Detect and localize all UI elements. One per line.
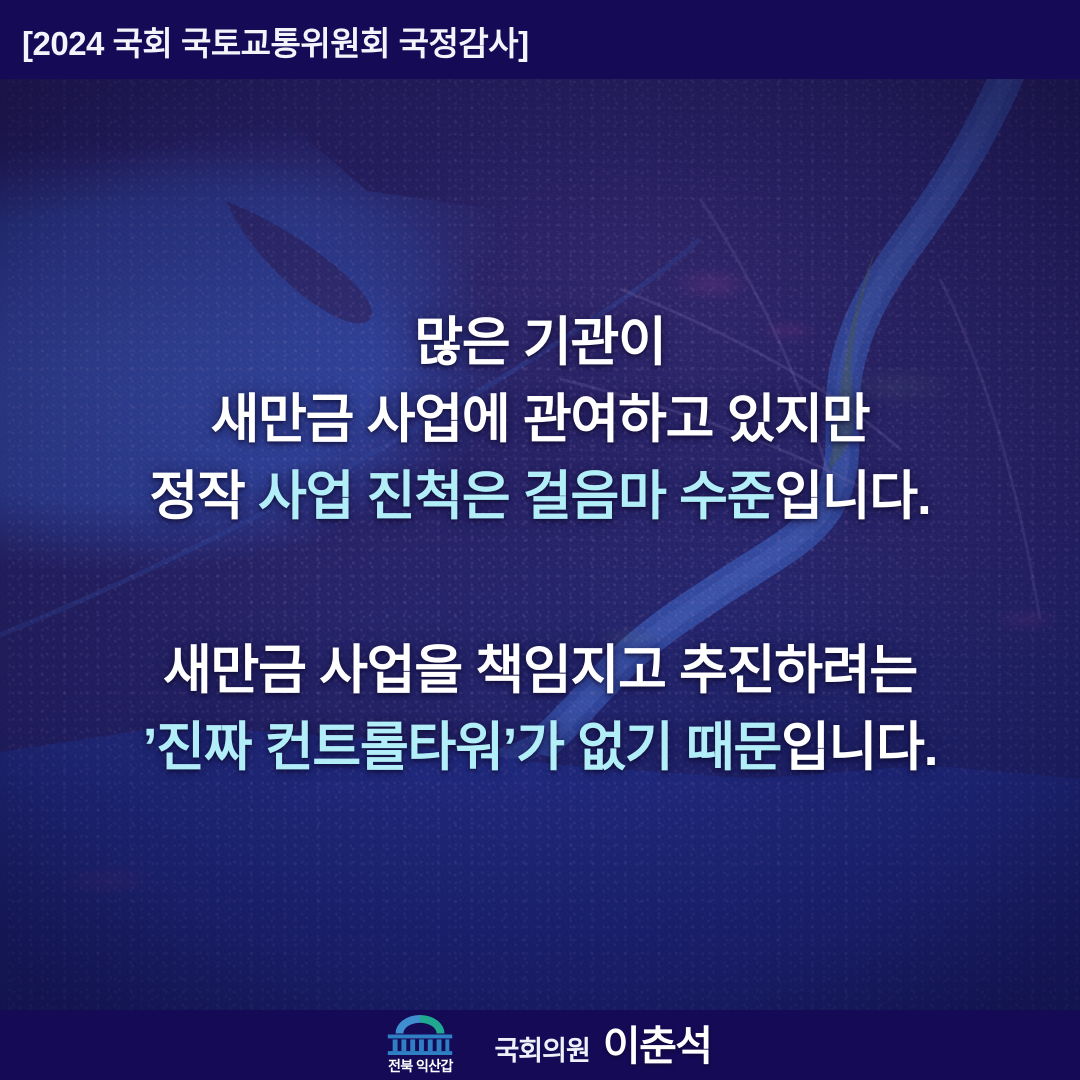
line-segment: 새만금 사업에 관여하고 있지만 bbox=[211, 390, 870, 449]
line-segment-highlight: 사업 진척은 걸음마 수준 bbox=[258, 467, 774, 526]
line-segment: 정작 bbox=[149, 467, 258, 526]
promo-card: [2024 국회 국토교통위원회 국정감사] 많은 기관이 새만금 사업에 관여… bbox=[0, 0, 1080, 1080]
message-line: ’진짜 컨트롤타워’가 없기 때문입니다. bbox=[24, 709, 1056, 786]
brand-block: 국회의원 이춘석 bbox=[494, 1012, 711, 1072]
member-role: 국회의원 bbox=[494, 1029, 589, 1068]
line-segment: 새만금 사업을 책임지고 추진하려는 bbox=[163, 641, 917, 700]
message-line: 새만금 사업에 관여하고 있지만 bbox=[24, 381, 1056, 458]
message-line: 새만금 사업을 책임지고 추진하려는 bbox=[24, 632, 1056, 709]
line-segment: 입니다. bbox=[781, 718, 937, 777]
line-segment: 입니다. bbox=[774, 467, 930, 526]
line-segment: 많은 기관이 bbox=[414, 313, 665, 372]
footer-bar: 전북 익산갑 국회의원 이춘석 bbox=[0, 1010, 1080, 1080]
national-assembly-building-icon: 전북 익산갑 bbox=[368, 1014, 472, 1076]
page-title: [2024 국회 국토교통위원회 국정감사] bbox=[22, 17, 529, 65]
line-segment-highlight: ’진짜 컨트롤타워’가 없기 때문 bbox=[143, 718, 781, 777]
message-block: 많은 기관이 새만금 사업에 관여하고 있지만 정작 사업 진척은 걸음마 수준… bbox=[0, 79, 1080, 1011]
paragraph-2: 새만금 사업을 책임지고 추진하려는 ’진짜 컨트롤타워’가 없기 때문입니다. bbox=[24, 632, 1056, 787]
district-label: 전북 익산갑 bbox=[388, 1056, 453, 1076]
member-name: 이춘석 bbox=[603, 1012, 712, 1072]
paragraph-1: 많은 기관이 새만금 사업에 관여하고 있지만 정작 사업 진척은 걸음마 수준… bbox=[24, 304, 1056, 536]
header-bar: [2024 국회 국토교통위원회 국정감사] bbox=[0, 0, 1080, 79]
message-line: 정작 사업 진척은 걸음마 수준입니다. bbox=[24, 458, 1056, 535]
message-line: 많은 기관이 bbox=[24, 304, 1056, 381]
